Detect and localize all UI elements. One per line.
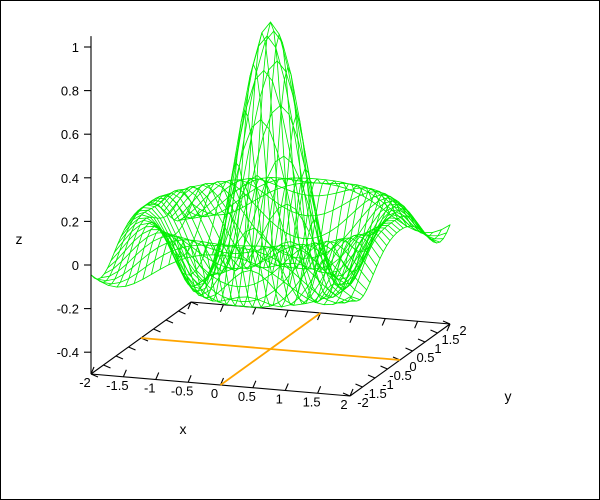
- mesh-line-v: [134, 70, 393, 297]
- y-tick-mark-far: [129, 347, 136, 350]
- x-tick-mark-far: [285, 310, 288, 317]
- x-tick-label: 1.5: [303, 394, 321, 409]
- z-tick-label: 0.8: [61, 84, 79, 99]
- surface-plot-svg: -2-1.5-1-0.500.511.52-2-1.5-1-0.500.511.…: [1, 1, 600, 500]
- x-tick-mark-far: [220, 305, 223, 312]
- z-tick-label: 0: [72, 258, 79, 273]
- x-tick-mark: [188, 375, 191, 382]
- y-tick-label: 2: [459, 323, 466, 338]
- surface-mesh-group: [91, 22, 450, 307]
- y-tick-label: 1.5: [441, 332, 459, 347]
- z-tick-label: 0.4: [61, 171, 79, 186]
- y-tick-label: 0.5: [416, 350, 434, 365]
- y-tick-label: -0.5: [389, 368, 411, 383]
- y-tick-mark: [381, 366, 388, 369]
- x-axis-title: x: [180, 421, 187, 437]
- x-tick-mark-far: [382, 319, 385, 326]
- x-tick-mark: [318, 386, 321, 393]
- x-tick-label: -1.5: [106, 378, 128, 393]
- x-tick-mark-far: [253, 308, 256, 315]
- zero-lines-group: [141, 313, 400, 385]
- z-tick-label: -0.2: [57, 302, 79, 317]
- z-tick-label: 0.2: [61, 214, 79, 229]
- x-tick-label: -0.5: [171, 383, 193, 398]
- y-tick-mark: [368, 375, 375, 378]
- y-tick-mark: [356, 384, 363, 387]
- x-tick-mark-far: [415, 321, 418, 328]
- y-axis-title: y: [505, 388, 512, 404]
- mesh-line-u: [255, 169, 355, 307]
- x-tick-label: 2: [340, 397, 347, 412]
- y-tick-mark-far: [116, 356, 123, 359]
- mesh-line-u: [212, 33, 312, 306]
- z-tick-label: 1: [72, 40, 79, 55]
- z-tick-label: -0.4: [57, 345, 79, 360]
- z-axis-title: z: [16, 231, 23, 247]
- x-tick-label: 0.5: [238, 389, 256, 404]
- y-tick-mark-far: [154, 329, 161, 332]
- z-axis-group: [84, 36, 91, 374]
- x-tick-label: 1: [276, 392, 283, 407]
- mesh-line-v: [124, 215, 383, 304]
- x-tick-label: -2: [79, 375, 91, 390]
- y-tick-mark: [431, 330, 438, 333]
- plot-canvas: -2-1.5-1-0.500.511.52-2-1.5-1-0.500.511.…: [0, 0, 600, 500]
- z-tick-label: 0.6: [61, 127, 79, 142]
- y-zero-line: [141, 338, 400, 360]
- x-tick-mark: [253, 381, 256, 388]
- y-tick-mark-far: [104, 365, 111, 368]
- y-tick-mark: [406, 348, 413, 351]
- x-tick-mark-far: [350, 316, 353, 323]
- x-tick-mark: [156, 373, 159, 380]
- x-tick-label: -1: [144, 381, 156, 396]
- y-tick-mark-far: [179, 311, 186, 314]
- x-tick-mark: [285, 384, 288, 391]
- y-tick-mark: [418, 339, 425, 342]
- x-tick-label: 0: [211, 386, 218, 401]
- x-tick-mark: [123, 370, 126, 377]
- y-tick-mark-far: [166, 320, 173, 323]
